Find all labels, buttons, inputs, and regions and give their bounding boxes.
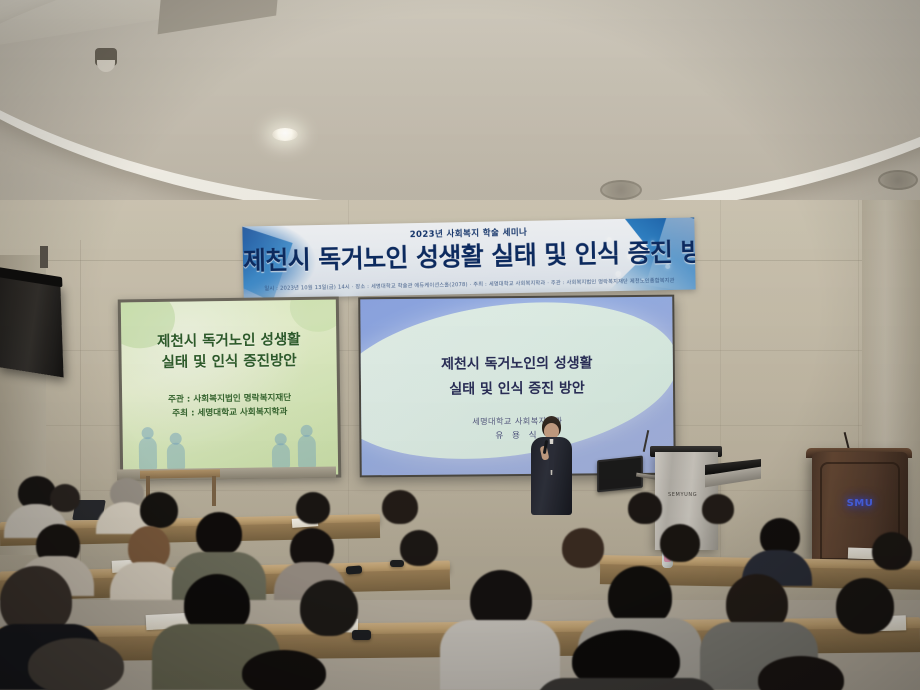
projection-screen-right: 제천시 독거노인의 성생활 실태 및 인식 증진 방안 세명대학교 사회복지학과… <box>358 295 676 478</box>
slide-right-title: 제천시 독거노인의 성생활 실태 및 인식 증진 방안 <box>361 351 673 403</box>
audience-head <box>660 524 700 562</box>
slide-left-subtitle: 주관 : 사회복지법인 명락복지재단 주최 : 세명대학교 사회복지학과 <box>122 391 337 422</box>
audience-head <box>562 528 604 568</box>
ceiling-fixture-icon <box>95 48 117 66</box>
audience-head <box>628 492 662 524</box>
phone <box>390 560 404 567</box>
audience-head <box>242 650 326 690</box>
ceiling-spotlight <box>272 128 298 141</box>
audience-body <box>534 678 720 690</box>
audience-head <box>382 490 418 524</box>
ceiling-vent <box>600 180 642 200</box>
speaker-ceiling-mount <box>40 246 48 268</box>
audience-head <box>296 492 330 524</box>
seminar-photo: 2023년 사회복지 학술 세미나 제천시 독거노인 성생활 실태 및 인식 증… <box>0 0 920 690</box>
audience-head <box>300 580 358 636</box>
slide-figure-decoration <box>298 435 316 469</box>
slide-left-title-line2: 실태 및 인식 증진방안 <box>121 350 336 374</box>
slide-right-title-line1: 제천시 독거노인의 성생활 <box>361 351 673 378</box>
audience-head <box>702 494 734 524</box>
slide-right-title-line2: 실태 및 인식 증진 방안 <box>361 375 673 402</box>
presenter-tie <box>549 444 554 470</box>
audience-head <box>400 530 438 566</box>
audience-head <box>836 578 894 634</box>
slide-left-host: 주최 : 세명대학교 사회복지학과 <box>122 405 337 422</box>
slide-figure-decoration <box>167 443 185 471</box>
phone <box>352 630 371 640</box>
audience-head <box>28 638 124 690</box>
ceiling-vent <box>878 170 918 190</box>
seminar-banner: 2023년 사회복지 학술 세미나 제천시 독거노인 성생활 실태 및 인식 증… <box>242 217 695 298</box>
slide-figure-decoration <box>139 437 157 471</box>
phone <box>346 565 363 574</box>
audience-head <box>196 512 242 556</box>
audience-area <box>0 470 920 690</box>
slide-figure-decoration <box>272 443 290 469</box>
audience-body <box>440 620 560 690</box>
slide-left-title: 제천시 독거노인 성생활 실태 및 인식 증진방안 <box>121 330 337 374</box>
slide-right-presenter: 유 용 식 <box>361 428 673 443</box>
wall-loudspeaker <box>0 274 64 377</box>
audience-head <box>140 492 178 528</box>
slide-decoration <box>290 300 339 333</box>
audience-head <box>872 532 912 570</box>
projection-screen-left: 제천시 독거노인 성생활 실태 및 인식 증진방안 주관 : 사회복지법인 명락… <box>118 296 342 480</box>
slide-right-organization: 세명대학교 사회복지학과 <box>361 414 673 429</box>
audience-head <box>50 484 80 512</box>
